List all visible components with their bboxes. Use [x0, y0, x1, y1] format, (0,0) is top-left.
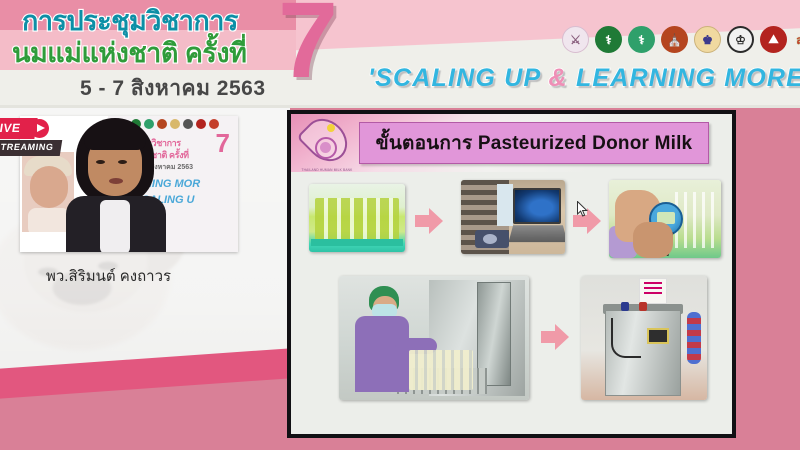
thai-pediatric-society-emblem-icon: ♚ [694, 26, 721, 53]
conference-title-line1: การประชุมวิชาการ [22, 4, 238, 38]
conference-title-line2: นมแม่แห่งชาติ ครั้งที่ [12, 36, 246, 70]
streaming-badge-label: STREAMING [0, 140, 63, 156]
presentation-slide: การประชุมวิชาการ นมแม่แห่งชาติ ครั้งที่ … [0, 0, 800, 450]
human-milk-bank-drop-logo-icon: THAILAND HUMAN MILK BANK [301, 115, 353, 171]
slide-title-chip: ขั้นตอนการ Pasteurized Donor Milk [359, 122, 709, 164]
live-streaming-badge: LIVE STREAMING [0, 118, 60, 162]
conference-tagline: 'SCALING UP & LEARNING MORE' [368, 64, 800, 93]
slide-title-text: ขั้นตอนการ Pasteurized Donor Milk [376, 128, 693, 158]
tagline-ampersand: & [549, 64, 568, 92]
speaker-name-label: พว.สิริมนต์ คงถาวร [46, 264, 171, 288]
speaker-webcam-figure [60, 116, 170, 252]
conference-edition-number: 7 [278, 0, 338, 94]
thai-breastfeeding-centre-emblem-icon: ♔ [727, 26, 754, 53]
slide-title-header: THAILAND HUMAN MILK BANK ขั้นตอนการ Past… [291, 114, 732, 172]
ministry-of-public-health-logo-icon: ⚕ [595, 26, 622, 53]
play-icon [30, 119, 49, 138]
tagline-prefix: 'SCALING UP [368, 64, 549, 92]
slide-content-panel: THAILAND HUMAN MILK BANK ขั้นตอนการ Past… [287, 110, 736, 438]
stainless-pasteurizer-machine-photo [581, 276, 707, 400]
nurse-loading-pasteurizer-photo [339, 276, 529, 400]
conference-date: 5 - 7 สิงหาคม 2563 [80, 72, 266, 105]
speaker-video-zone: การประชุมวิชาการ นมแม่แห่งชาติ ครั้งที่ … [0, 108, 290, 450]
milk-bottles-in-freezer-rack-photo [309, 184, 405, 252]
royal-college-emblem-icon: ⛪ [661, 26, 688, 53]
process-diagram-body [291, 172, 732, 438]
national-institute-emblem-icon: ⛰ [760, 26, 787, 53]
tagline-suffix: LEARNING MORE' [568, 64, 800, 92]
handheld-temperature-logger-photo [609, 180, 721, 258]
health-department-logo-icon: ⚕ [628, 26, 655, 53]
thai-health-promotion-foundation-logo-icon: สสส [793, 26, 800, 53]
royal-patronage-emblem-icon: ⚔ [562, 26, 589, 53]
mouse-pointer-icon [577, 201, 589, 218]
laptop-data-entry-photo [461, 180, 565, 254]
conference-header-band: การประชุมวิชาการ นมแม่แห่งชาติ ครั้งที่ … [0, 0, 800, 108]
sponsor-logo-row: ⚔ ⚕ ⚕ ⛪ ♚ ♔ ⛰ สสส [562, 26, 800, 53]
poster-edition-number: 7 [216, 130, 230, 156]
